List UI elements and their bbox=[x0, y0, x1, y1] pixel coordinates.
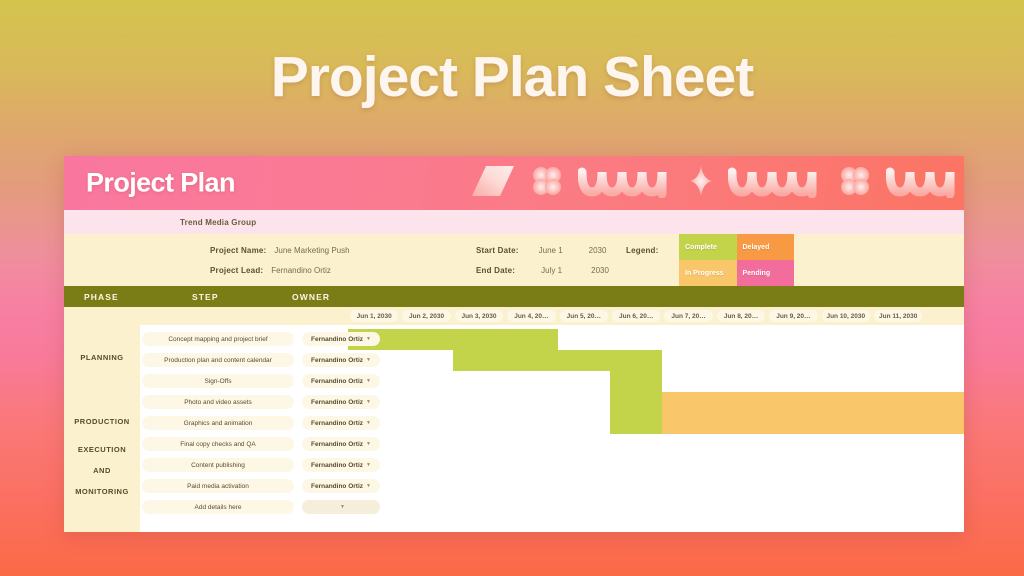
owner-label: Fernandino Ortiz bbox=[311, 420, 363, 427]
legend-row: Legend: bbox=[626, 246, 659, 255]
project-name-value[interactable]: June Marketing Push bbox=[274, 246, 349, 255]
gantt-date-cell[interactable]: Jun 6, 20… bbox=[612, 310, 660, 322]
owner-dropdown[interactable]: Fernandino Ortiz▼ bbox=[302, 353, 380, 367]
gantt-date-cell[interactable]: Jun 7, 20… bbox=[664, 310, 712, 322]
gantt-date-cell[interactable]: Jun 11, 2030 bbox=[874, 310, 922, 322]
four-petal-flower-shape bbox=[838, 164, 872, 203]
step-cell[interactable]: Sign-Offs bbox=[142, 374, 294, 388]
chevron-down-icon: ▼ bbox=[366, 484, 371, 489]
legend-delayed[interactable]: Delayed bbox=[737, 234, 795, 260]
chevron-down-icon: ▼ bbox=[366, 400, 371, 405]
phase-label-and: AND bbox=[64, 466, 140, 475]
parallelogram-shape bbox=[460, 164, 516, 203]
bar-photo-video[interactable] bbox=[610, 392, 662, 413]
legend-delayed-label: Delayed bbox=[743, 244, 770, 251]
project-lead-value[interactable]: Fernandino Ortiz bbox=[271, 266, 331, 275]
banner-decorations bbox=[460, 156, 958, 210]
owner-label: Fernandino Ortiz bbox=[311, 441, 363, 448]
owner-dropdown[interactable]: Fernandino Ortiz▼ bbox=[302, 458, 380, 472]
step-cell[interactable]: Paid media activation bbox=[142, 479, 294, 493]
owner-dropdown[interactable]: Fernandino Ortiz▼ bbox=[302, 395, 380, 409]
four-point-sparkle-shape bbox=[688, 164, 714, 203]
phase-label-planning: PLANNING bbox=[64, 353, 140, 362]
company-row: Trend Media Group bbox=[64, 210, 964, 234]
phase-label-production: PRODUCTION bbox=[64, 417, 140, 426]
wavy-squiggle-shape bbox=[886, 164, 958, 203]
table-body: PLANNINGPRODUCTIONEXECUTIONANDMONITORING… bbox=[64, 325, 964, 532]
gantt-date-cell[interactable]: Jun 8, 20… bbox=[717, 310, 765, 322]
column-header-owner: OWNER bbox=[292, 292, 330, 302]
owner-dropdown[interactable]: Fernandino Ortiz▼ bbox=[302, 374, 380, 388]
wavy-squiggle-shape bbox=[578, 164, 674, 203]
phase-label-monitoring: MONITORING bbox=[64, 487, 140, 496]
end-date-year[interactable]: 2030 bbox=[591, 266, 609, 275]
gantt-date-cell[interactable]: Jun 3, 2030 bbox=[455, 310, 503, 322]
start-date-year[interactable]: 2030 bbox=[589, 246, 607, 255]
legend-complete-label: Complete bbox=[685, 244, 717, 251]
project-name-label: Project Name: bbox=[210, 246, 266, 255]
project-plan-sheet: Project Plan bbox=[64, 156, 964, 532]
chevron-down-icon: ▼ bbox=[366, 463, 371, 468]
gantt-date-cell[interactable]: Jun 9, 20… bbox=[769, 310, 817, 322]
bar-graphics-anim[interactable] bbox=[610, 413, 662, 434]
step-cell[interactable]: Concept mapping and project brief bbox=[142, 332, 294, 346]
owner-dropdown[interactable]: ▼ bbox=[302, 500, 380, 514]
company-name: Trend Media Group bbox=[180, 218, 256, 227]
gantt-date-cell[interactable]: Jun 4, 20… bbox=[507, 310, 555, 322]
gantt-date-cell[interactable]: Jun 2, 2030 bbox=[402, 310, 450, 322]
gantt-date-cell[interactable]: Jun 5, 20… bbox=[560, 310, 608, 322]
start-date-label: Start Date: bbox=[476, 246, 519, 255]
legend-pending[interactable]: Pending bbox=[737, 260, 795, 286]
sheet-banner: Project Plan bbox=[64, 156, 964, 210]
owner-dropdown[interactable]: Fernandino Ortiz▼ bbox=[302, 479, 380, 493]
gantt-date-header: Jun 1, 2030Jun 2, 2030Jun 3, 2030Jun 4, … bbox=[64, 307, 964, 325]
project-lead-row: Project Lead: Fernandino Ortiz bbox=[210, 266, 331, 275]
step-cell[interactable]: Production plan and content calendar bbox=[142, 353, 294, 367]
project-name-row: Project Name: June Marketing Push bbox=[210, 246, 350, 255]
bar-production-plan[interactable] bbox=[453, 350, 663, 371]
page-title: Project Plan Sheet bbox=[0, 44, 1024, 110]
legend-grid: Complete Delayed In Progress Pending bbox=[679, 234, 794, 286]
owner-dropdown[interactable]: Fernandino Ortiz▼ bbox=[302, 416, 380, 430]
phase-label-execution: EXECUTION bbox=[64, 445, 140, 454]
four-petal-flower-shape bbox=[530, 164, 564, 203]
legend-complete[interactable]: Complete bbox=[679, 234, 737, 260]
owner-label: Fernandino Ortiz bbox=[311, 357, 363, 364]
start-date-month[interactable]: June 1 bbox=[539, 246, 585, 255]
chevron-down-icon: ▼ bbox=[366, 337, 371, 342]
owner-label: Fernandino Ortiz bbox=[311, 399, 363, 406]
banner-title: Project Plan bbox=[86, 168, 235, 199]
table-column-header: PHASE STEP OWNER bbox=[64, 286, 964, 307]
legend-in-progress-label: In Progress bbox=[685, 270, 724, 277]
legend-label: Legend: bbox=[626, 246, 659, 255]
end-date-month[interactable]: July 1 bbox=[541, 266, 587, 275]
gantt-date-cell[interactable]: Jun 10, 2030 bbox=[822, 310, 870, 322]
owner-label: Fernandino Ortiz bbox=[311, 462, 363, 469]
bar-graphics-progress[interactable] bbox=[662, 413, 964, 434]
owner-label: Fernandino Ortiz bbox=[311, 378, 363, 385]
gantt-date-cell[interactable]: Jun 1, 2030 bbox=[350, 310, 398, 322]
step-cell[interactable]: Final copy checks and QA bbox=[142, 437, 294, 451]
project-info-block: Project Name: June Marketing Push Projec… bbox=[64, 234, 964, 286]
bar-photo-progress[interactable] bbox=[662, 392, 964, 413]
phase-column: PLANNINGPRODUCTIONEXECUTIONANDMONITORING bbox=[64, 325, 140, 532]
chevron-down-icon: ▼ bbox=[366, 358, 371, 363]
legend-in-progress[interactable]: In Progress bbox=[679, 260, 737, 286]
end-date-label: End Date: bbox=[476, 266, 515, 275]
owner-label: Fernandino Ortiz bbox=[311, 483, 363, 490]
legend-pending-label: Pending bbox=[743, 270, 771, 277]
chevron-down-icon: ▼ bbox=[366, 379, 371, 384]
start-date-row: Start Date: June 1 2030 bbox=[476, 246, 606, 255]
owner-dropdown[interactable]: Fernandino Ortiz▼ bbox=[302, 332, 380, 346]
bar-signoffs[interactable] bbox=[610, 371, 662, 392]
column-header-phase: PHASE bbox=[84, 292, 119, 302]
project-lead-label: Project Lead: bbox=[210, 266, 263, 275]
chevron-down-icon: ▼ bbox=[340, 505, 345, 510]
owner-dropdown[interactable]: Fernandino Ortiz▼ bbox=[302, 437, 380, 451]
owner-label: Fernandino Ortiz bbox=[311, 336, 363, 343]
column-header-step: STEP bbox=[192, 292, 219, 302]
chevron-down-icon: ▼ bbox=[366, 442, 371, 447]
step-cell[interactable]: Photo and video assets bbox=[142, 395, 294, 409]
wavy-squiggle-shape bbox=[728, 164, 824, 203]
chevron-down-icon: ▼ bbox=[366, 421, 371, 426]
step-cell[interactable]: Graphics and animation bbox=[142, 416, 294, 430]
step-cell[interactable]: Content publishing bbox=[142, 458, 294, 472]
end-date-row: End Date: July 1 2030 bbox=[476, 266, 609, 275]
step-cell[interactable]: Add details here bbox=[142, 500, 294, 514]
